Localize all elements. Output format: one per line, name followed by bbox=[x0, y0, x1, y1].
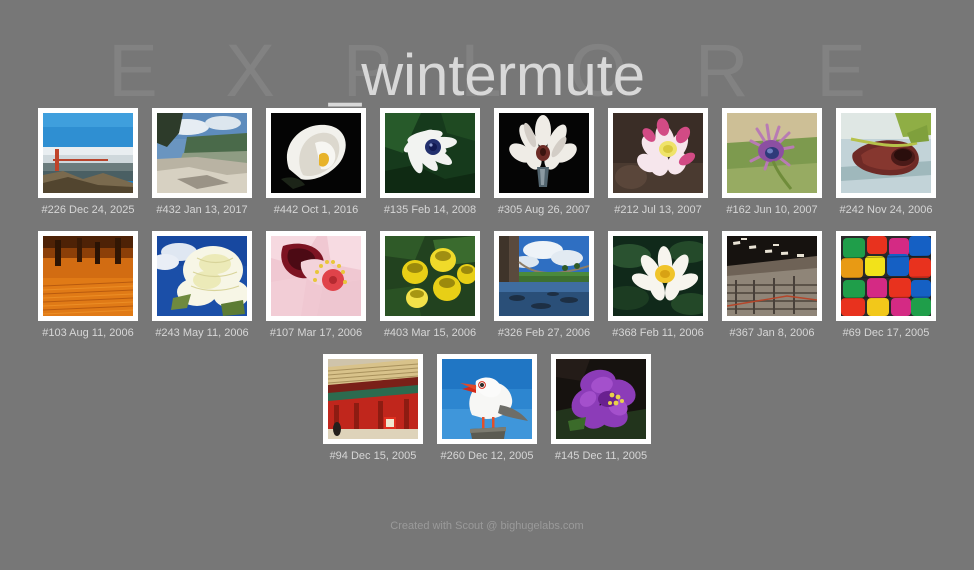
photo-thumbnail-frame[interactable] bbox=[722, 108, 822, 198]
photo-caption: #243 May 11, 2006 bbox=[155, 327, 248, 340]
photo-thumbnail-frame[interactable] bbox=[836, 108, 936, 198]
photo-cell[interactable]: #367 Jan 8, 2006 bbox=[717, 231, 827, 340]
photo-grid: #226 Dec 24, 2025#432 Jan 13, 2017#442 O… bbox=[0, 108, 974, 463]
photo-cell[interactable]: #94 Dec 15, 2005 bbox=[318, 354, 428, 463]
photo-cell[interactable]: #135 Feb 14, 2008 bbox=[375, 108, 485, 217]
photo-chinese-temple-forbidden-city[interactable] bbox=[328, 359, 418, 439]
page-title: _wintermute bbox=[0, 44, 974, 108]
photo-purple-spiky-flower[interactable] bbox=[727, 113, 817, 193]
photo-pink-hibiscus-closeup[interactable] bbox=[271, 236, 361, 316]
photo-row: #94 Dec 15, 2005#260 Dec 12, 2005#145 De… bbox=[0, 354, 974, 463]
photo-thumbnail-frame[interactable] bbox=[437, 354, 537, 444]
photo-cell[interactable]: #442 Oct 1, 2016 bbox=[261, 108, 371, 217]
page-header: EXPLORE _wintermute bbox=[0, 0, 974, 108]
photo-row: #103 Aug 11, 2006#243 May 11, 2006#107 M… bbox=[0, 231, 974, 340]
photo-caption: #162 Jun 10, 2007 bbox=[726, 204, 817, 217]
photo-cell[interactable]: #403 Mar 15, 2006 bbox=[375, 231, 485, 340]
photo-caption: #242 Nov 24, 2006 bbox=[840, 204, 933, 217]
photo-cell[interactable]: #242 Nov 24, 2006 bbox=[831, 108, 941, 217]
photo-caption: #305 Aug 26, 2007 bbox=[498, 204, 590, 217]
photo-thumbnail-frame[interactable] bbox=[380, 231, 480, 321]
photo-purple-flower-closeup[interactable] bbox=[556, 359, 646, 439]
photo-thumbnail-frame[interactable] bbox=[38, 108, 138, 198]
photo-caption: #212 Jul 13, 2007 bbox=[614, 204, 701, 217]
photo-cell[interactable]: #162 Jun 10, 2007 bbox=[717, 108, 827, 217]
photo-seagull-on-post-blue-sky[interactable] bbox=[442, 359, 532, 439]
footer-credit: Created with Scout @ bighugelabs.com bbox=[0, 520, 974, 532]
photo-cell[interactable]: #69 Dec 17, 2005 bbox=[831, 231, 941, 340]
photo-white-calla-lily-on-black[interactable] bbox=[271, 113, 361, 193]
photo-orange-pine-needle-forest-floor[interactable] bbox=[43, 236, 133, 316]
photo-thumbnail-frame[interactable] bbox=[266, 231, 366, 321]
photo-terracotta-army-hall-interior[interactable] bbox=[727, 236, 817, 316]
photo-caption: #432 Jan 13, 2017 bbox=[156, 204, 247, 217]
photo-cell[interactable]: #107 Mar 17, 2006 bbox=[261, 231, 371, 340]
photo-pink-lotus-flower[interactable] bbox=[613, 113, 703, 193]
photo-thumbnail-frame[interactable] bbox=[152, 108, 252, 198]
photo-caption: #107 Mar 17, 2006 bbox=[270, 327, 362, 340]
photo-cell[interactable]: #212 Jul 13, 2007 bbox=[603, 108, 713, 217]
photo-caption: #368 Feb 11, 2006 bbox=[612, 327, 704, 340]
photo-caption: #326 Feb 27, 2006 bbox=[498, 327, 590, 340]
photo-cell[interactable]: #226 Dec 24, 2025 bbox=[33, 108, 143, 217]
photo-caption: #226 Dec 24, 2025 bbox=[42, 204, 135, 217]
photo-colorful-origami-paper-stars[interactable] bbox=[841, 236, 931, 316]
photo-caption: #260 Dec 12, 2005 bbox=[441, 450, 534, 463]
photo-caption: #145 Dec 11, 2005 bbox=[555, 450, 647, 463]
photo-thumbnail-frame[interactable] bbox=[551, 354, 651, 444]
photo-white-chrysanthemum-blue-sky[interactable] bbox=[157, 236, 247, 316]
photo-cell[interactable]: #326 Feb 27, 2006 bbox=[489, 231, 599, 340]
photo-cell[interactable]: #243 May 11, 2006 bbox=[147, 231, 257, 340]
photo-thumbnail-frame[interactable] bbox=[152, 231, 252, 321]
photo-caption: #403 Mar 15, 2006 bbox=[384, 327, 476, 340]
photo-yellow-calceolaria-pouch-flowers[interactable] bbox=[385, 236, 475, 316]
photo-golden-gate-bridge-above-fog[interactable] bbox=[43, 113, 133, 193]
photo-thumbnail-frame[interactable] bbox=[722, 231, 822, 321]
photo-caption: #135 Feb 14, 2008 bbox=[384, 204, 476, 217]
photo-canyon-cliff-landscape[interactable] bbox=[157, 113, 247, 193]
photo-thumbnail-frame[interactable] bbox=[608, 108, 708, 198]
photo-thumbnail-frame[interactable] bbox=[494, 108, 594, 198]
photo-caption: #367 Jan 8, 2006 bbox=[729, 327, 814, 340]
photo-cell[interactable]: #432 Jan 13, 2017 bbox=[147, 108, 257, 217]
photo-thumbnail-frame[interactable] bbox=[323, 354, 423, 444]
photo-cell[interactable]: #103 Aug 11, 2006 bbox=[33, 231, 143, 340]
photo-white-water-lily[interactable] bbox=[613, 236, 703, 316]
row-spacer bbox=[0, 217, 974, 231]
photo-thumbnail-frame[interactable] bbox=[608, 231, 708, 321]
photo-cell[interactable]: #145 Dec 11, 2005 bbox=[546, 354, 656, 463]
photo-cell[interactable]: #368 Feb 11, 2006 bbox=[603, 231, 713, 340]
photo-white-osteospermum-daisy[interactable] bbox=[385, 113, 475, 193]
photo-white-magnolia-on-black[interactable] bbox=[499, 113, 589, 193]
photo-caption: #103 Aug 11, 2006 bbox=[42, 327, 134, 340]
photo-thumbnail-frame[interactable] bbox=[380, 108, 480, 198]
photo-caption: #442 Oct 1, 2016 bbox=[274, 204, 358, 217]
photo-cell[interactable]: #305 Aug 26, 2007 bbox=[489, 108, 599, 217]
photo-row: #226 Dec 24, 2025#432 Jan 13, 2017#442 O… bbox=[0, 108, 974, 217]
photo-caption: #94 Dec 15, 2005 bbox=[330, 450, 417, 463]
photo-caption: #69 Dec 17, 2005 bbox=[843, 327, 930, 340]
photo-thumbnail-frame[interactable] bbox=[266, 108, 366, 198]
photo-thumbnail-frame[interactable] bbox=[494, 231, 594, 321]
photo-thumbnail-frame[interactable] bbox=[38, 231, 138, 321]
photo-thumbnail-frame[interactable] bbox=[836, 231, 936, 321]
photo-pitcher-plant-nepenthes[interactable] bbox=[841, 113, 931, 193]
photo-cell[interactable]: #260 Dec 12, 2005 bbox=[432, 354, 542, 463]
photo-bridge-over-river-blue-sky[interactable] bbox=[499, 236, 589, 316]
row-spacer bbox=[0, 340, 974, 354]
